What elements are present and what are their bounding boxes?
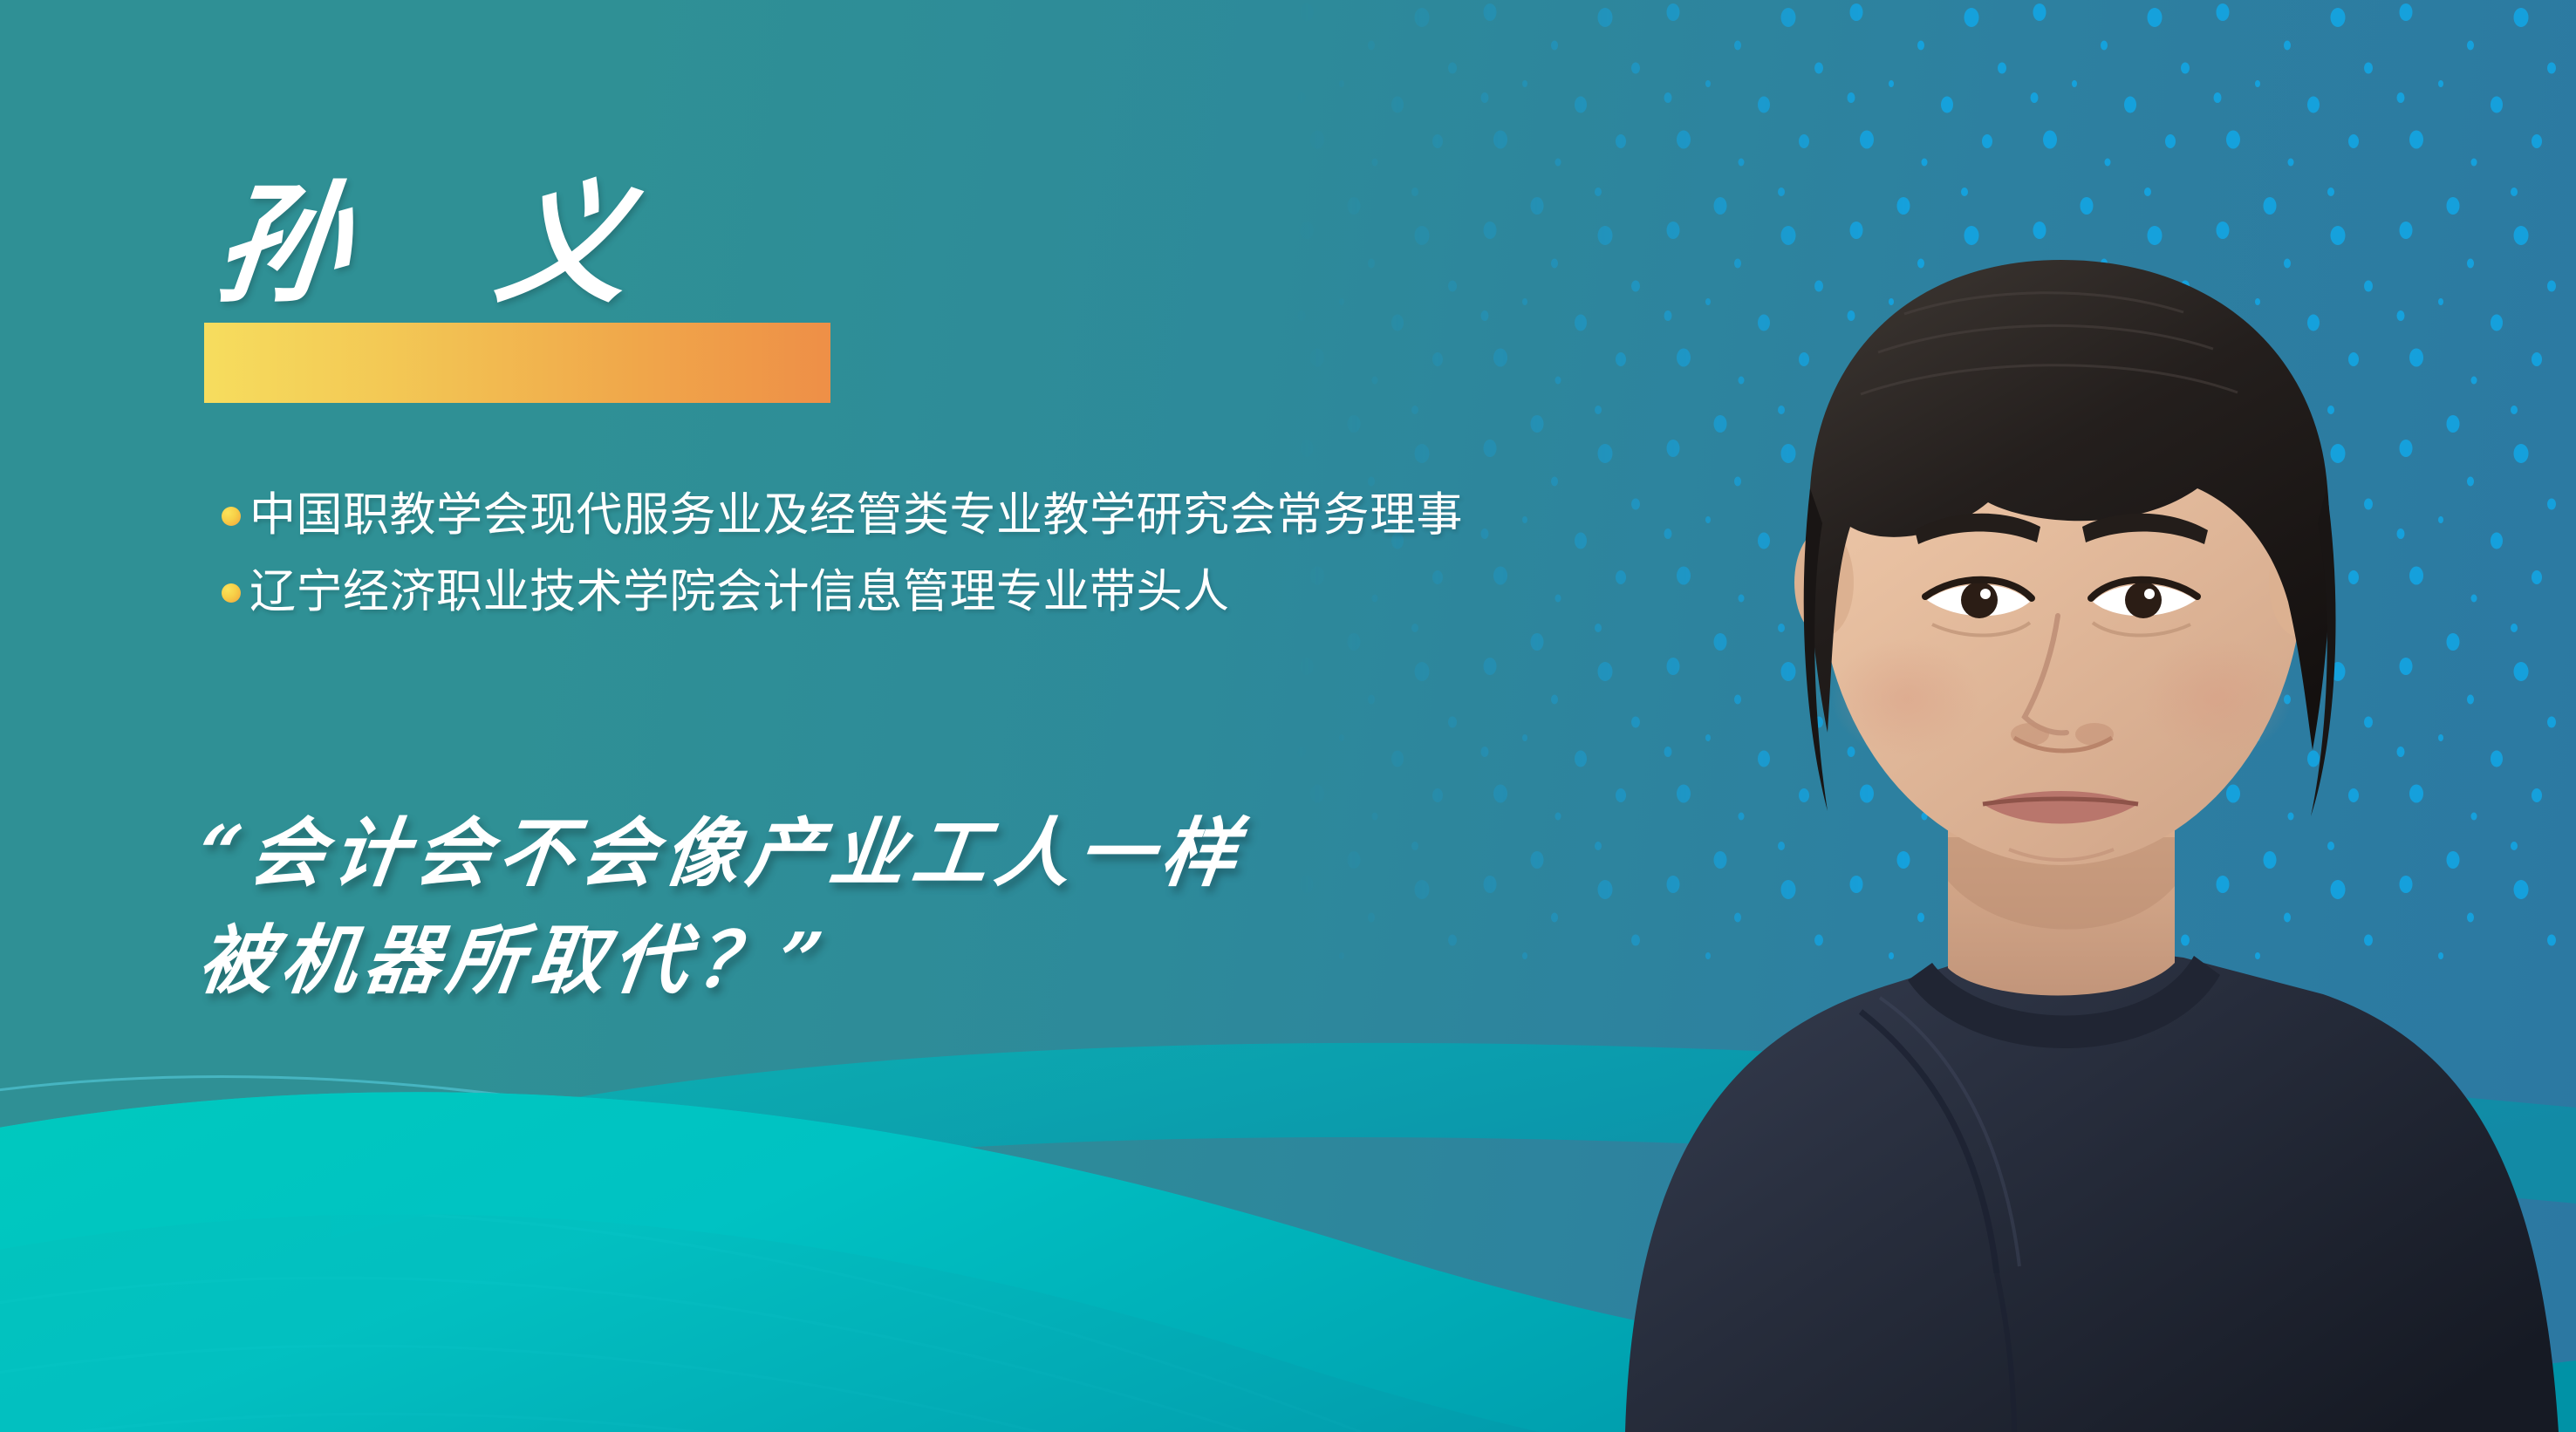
name-accent-bar: [204, 323, 830, 403]
credential-text: 中国职教学会现代服务业及经管类专业教学研究会常务理事: [249, 485, 1530, 546]
speaker-quote: “会计会不会像产业工人一样 被机器所取代？”: [199, 809, 1507, 1025]
text-content-column: 孙 义 中国职教学会现代服务业及经管类专业教学研究会常务理事 辽宁经济职业技术学…: [0, 0, 1657, 1432]
bullet-dot-icon: [222, 507, 241, 526]
list-item: 中国职教学会现代服务业及经管类专业教学研究会常务理事: [204, 485, 1530, 546]
speaker-intro-slide: 孙 义 中国职教学会现代服务业及经管类专业教学研究会常务理事 辽宁经济职业技术学…: [0, 0, 2576, 1432]
credential-text: 辽宁经济职业技术学院会计信息管理专业带头人: [249, 562, 1530, 623]
speaker-portrait-photo: [1573, 0, 2576, 1432]
quote-line-2: 被机器所取代？”: [194, 917, 1513, 1005]
credentials-list: 中国职教学会现代服务业及经管类专业教学研究会常务理事 辽宁经济职业技术学院会计信…: [204, 485, 1530, 639]
list-item: 辽宁经济职业技术学院会计信息管理专业带头人: [204, 562, 1530, 623]
quote-line-1: “会计会不会像产业工人一样: [194, 809, 1513, 897]
speaker-name-block: 孙 义: [204, 180, 867, 415]
bullet-dot-icon: [222, 583, 241, 603]
speaker-name: 孙 义: [209, 180, 687, 310]
